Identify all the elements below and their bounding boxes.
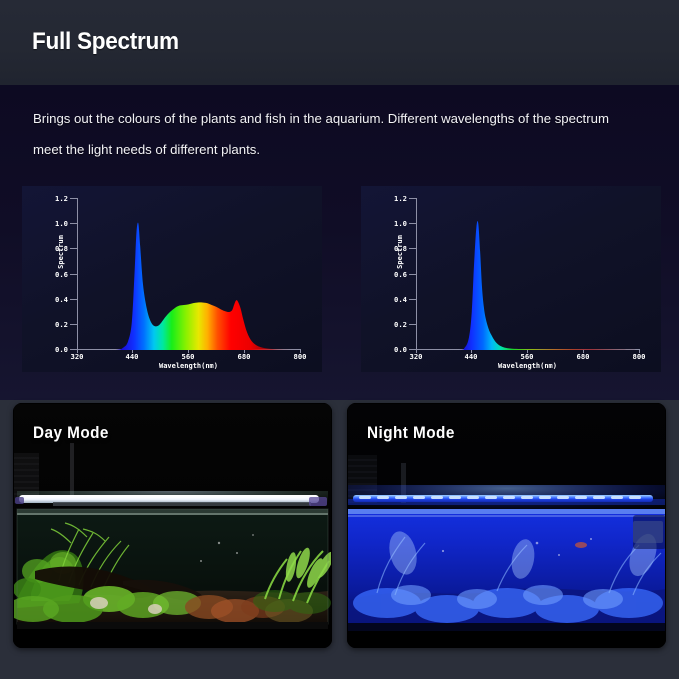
header-band: Full Spectrum [0,0,679,85]
night-mode-photo[interactable]: Night Mode [347,403,666,648]
chart-y-axis-title: Spectrum [57,235,65,269]
chart-y-axis-title: Spectrum [396,235,404,269]
night-spectrum-chart: 1.2 1.0 0.8 0.6 0.4 0.2 0.0 Spectrum 320… [361,186,661,372]
x-tick-label: 320 [396,352,436,361]
y-tick-label: 0.4 [381,295,407,304]
y-tick-label: 0.6 [381,270,407,279]
intro-paragraph: Brings out the colours of the plants and… [33,103,633,165]
y-tick-label: 0.2 [381,320,407,329]
x-tick-label: 800 [619,352,659,361]
day-mode-label: Day Mode [33,423,109,443]
full-spectrum-chart: 1.2 1.0 0.8 0.6 0.4 0.2 0.0 Spectrum 320… [22,186,322,372]
spectrum-curve-day [77,198,300,350]
y-tick-label: 0.4 [42,295,68,304]
x-tick-label: 560 [507,352,547,361]
page-title: Full Spectrum [32,28,179,56]
day-mode-photo[interactable]: Day Mode [13,403,332,648]
y-tick-label: 1.0 [42,219,68,228]
chart-x-axis-title: Wavelength(nm) [416,362,639,370]
y-tick-label: 0.6 [42,270,68,279]
y-tick-label: 0.2 [42,320,68,329]
spectrum-curve-night [416,198,639,350]
y-tick-label: 1.0 [381,219,407,228]
x-tick-label: 680 [563,352,603,361]
x-tick-label: 440 [112,352,152,361]
product-feature-panel: Full Spectrum Brings out the colours of … [0,0,679,679]
x-tick-label: 440 [451,352,491,361]
x-tick-label: 320 [57,352,97,361]
y-tick-label: 1.2 [381,194,407,203]
y-tick-label: 1.2 [42,194,68,203]
x-tick-label: 560 [168,352,208,361]
chart-x-axis-title: Wavelength(nm) [77,362,300,370]
x-tick-label: 800 [280,352,320,361]
night-mode-label: Night Mode [367,423,455,443]
x-tick-label: 680 [224,352,264,361]
